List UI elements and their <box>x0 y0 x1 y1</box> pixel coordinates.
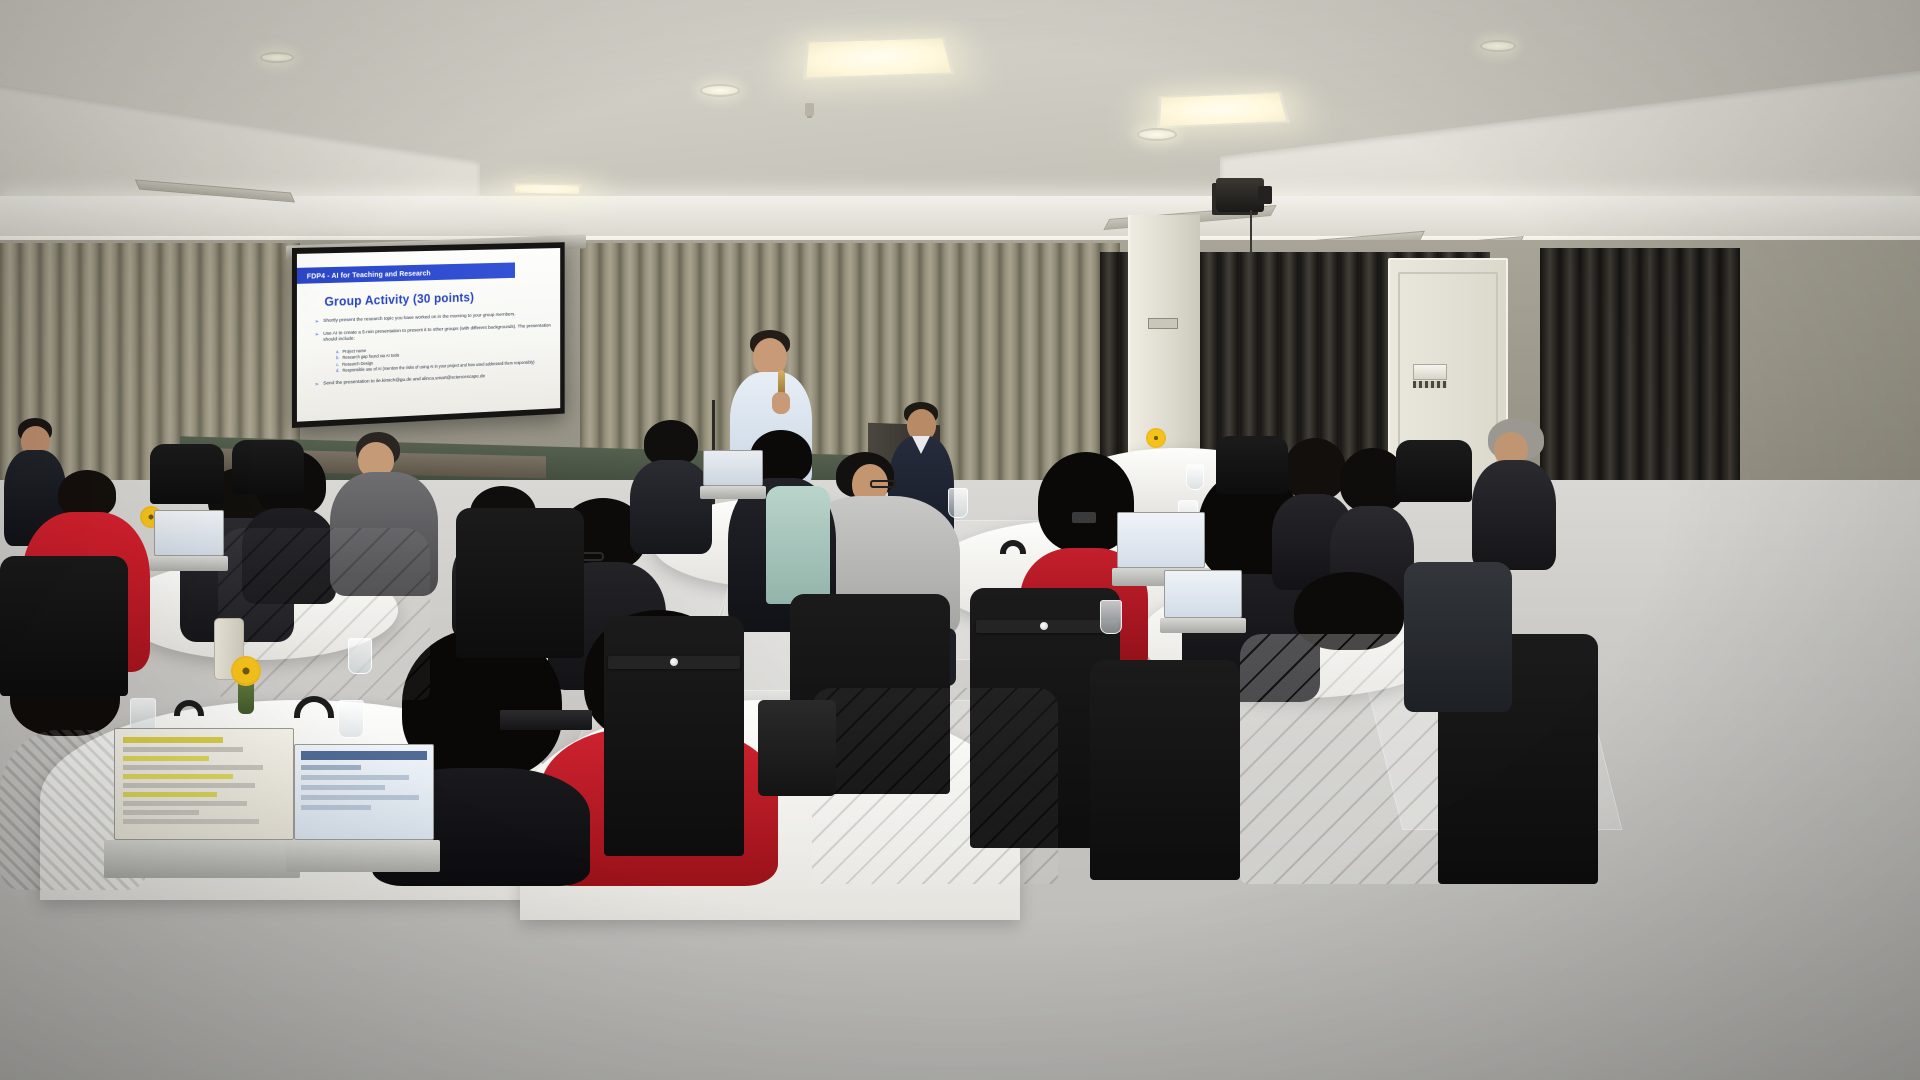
banquet-chair[interactable] <box>1216 436 1288 494</box>
laptop-right-far[interactable] <box>1160 570 1246 634</box>
water-glass <box>348 638 372 674</box>
ceiling-spotlight-icon <box>1216 178 1264 212</box>
laptop-front-center[interactable] <box>500 700 592 730</box>
downlight-icon <box>260 52 294 63</box>
wall-control-buttons[interactable] <box>1413 381 1447 388</box>
laptop-keyboard[interactable] <box>700 486 766 499</box>
laptop-keyboard[interactable] <box>1160 618 1246 633</box>
led-panel-light-icon <box>511 183 583 196</box>
laptop-screen <box>1164 570 1242 618</box>
attendee-gray-hair-far-right <box>1472 418 1558 568</box>
presenter-hand <box>772 392 790 414</box>
blue-puffer-jacket <box>812 688 1058 884</box>
led-panel-light-icon <box>803 37 955 80</box>
spotlight-cable <box>1250 210 1252 262</box>
fire-sprinkler-icon <box>805 103 814 116</box>
banquet-chair[interactable] <box>604 616 744 856</box>
eyeglasses-icon <box>870 480 896 488</box>
flower-vase <box>238 680 254 714</box>
sunflower-icon <box>233 658 259 684</box>
laptop-screen <box>1117 512 1205 568</box>
mint-chair <box>766 486 830 604</box>
sub-marker: d. <box>336 368 339 374</box>
laptop-keyboard[interactable] <box>150 556 228 571</box>
banquet-chair[interactable] <box>456 508 584 658</box>
water-glass <box>338 700 364 738</box>
sub-marker: c. <box>336 362 339 368</box>
slide-surface: FDP4 - AI for Teaching and Research Grou… <box>297 248 560 422</box>
slide-banner-text: FDP4 - AI for Teaching and Research <box>307 268 431 280</box>
water-glass <box>1100 600 1122 634</box>
banquet-chair[interactable] <box>1396 440 1472 502</box>
laptop-stage-table[interactable] <box>700 450 766 500</box>
wall-control-panel[interactable] <box>1413 364 1447 380</box>
hair-clip-icon <box>1072 512 1096 523</box>
laptop-foreground-center[interactable] <box>286 744 440 872</box>
led-panel-light-icon <box>1157 91 1290 128</box>
laptop-keyboard[interactable] <box>286 840 440 872</box>
laptop-screen <box>294 744 434 840</box>
chair-sash-jewel <box>1040 622 1048 630</box>
slide-body: ➣ Shortly present the research topic you… <box>315 311 553 394</box>
banquet-chair[interactable] <box>232 440 304 494</box>
laptop-foreground-left[interactable] <box>104 728 300 880</box>
slide-bullet: ➣ Send the presentation to ile.kimich@gu… <box>315 371 553 389</box>
sunflower-icon <box>1148 430 1164 446</box>
wall-sign <box>1148 318 1178 329</box>
laptop-screen <box>703 450 763 486</box>
arrow-bullet-icon: ➣ <box>315 381 320 389</box>
projection-screen: FDP4 - AI for Teaching and Research Grou… <box>292 242 565 428</box>
slide-bullet-text: Shortly present the research topic you h… <box>323 312 515 326</box>
downlight-icon <box>1137 128 1177 141</box>
slide-bullet-text: Send the presentation to ile.kimich@gu.d… <box>323 374 485 389</box>
handbag <box>758 700 836 796</box>
water-glass <box>1186 464 1204 490</box>
slide-title: Group Activity (30 points) <box>324 291 474 309</box>
backpack <box>1404 562 1512 712</box>
downlight-icon <box>1480 40 1516 52</box>
arrow-bullet-icon: ➣ <box>315 332 320 345</box>
downlight-icon <box>700 84 740 97</box>
sub-marker: a. <box>336 349 339 355</box>
attendee-top <box>1472 460 1556 570</box>
sub-text: Project name <box>342 348 366 354</box>
laptop-left-table[interactable] <box>150 510 228 572</box>
attendee-mint-chair-occupant <box>766 486 832 606</box>
arrow-bullet-icon: ➣ <box>315 319 320 327</box>
chair-sash-jewel <box>670 658 678 666</box>
laptop-screen <box>114 728 294 840</box>
laptop-keyboard[interactable] <box>500 710 592 730</box>
conference-room-photo: FDP4 - AI for Teaching and Research Grou… <box>0 0 1920 1080</box>
banquet-chair[interactable] <box>150 444 224 504</box>
laptop-screen <box>154 510 224 556</box>
slide-sub-list: a. Project name b. Research gap found vi… <box>336 340 553 373</box>
slide-banner: FDP4 - AI for Teaching and Research <box>297 262 515 283</box>
attendee-hair <box>58 470 116 518</box>
water-glass <box>948 488 968 518</box>
banquet-chair[interactable] <box>1090 660 1240 880</box>
laptop-keyboard[interactable] <box>104 840 300 878</box>
banquet-chair[interactable] <box>0 556 128 696</box>
sub-marker: b. <box>336 355 339 361</box>
